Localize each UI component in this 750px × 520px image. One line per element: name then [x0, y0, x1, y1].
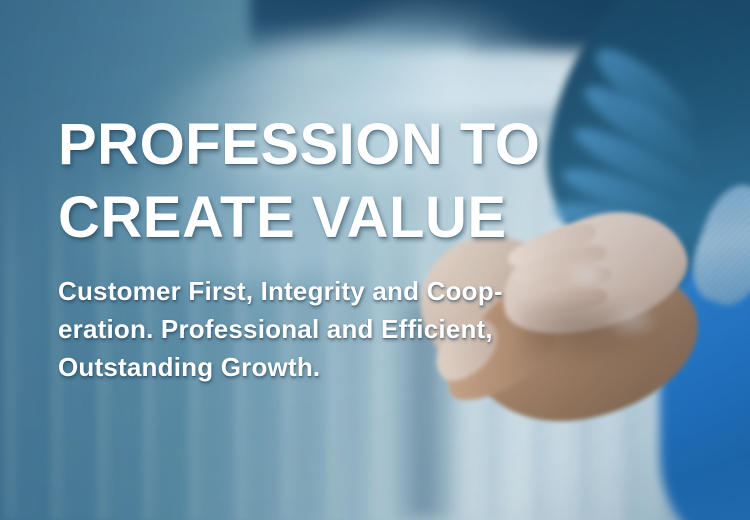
hero-banner: PROFESSION TO CREATE VALUE Customer Firs…	[0, 0, 750, 520]
banner-subheading: Customer First, Integrity and Coop- erat…	[58, 272, 578, 386]
banner-content: PROFESSION TO CREATE VALUE Customer Firs…	[58, 0, 698, 520]
banner-headline: PROFESSION TO CREATE VALUE	[58, 108, 540, 254]
